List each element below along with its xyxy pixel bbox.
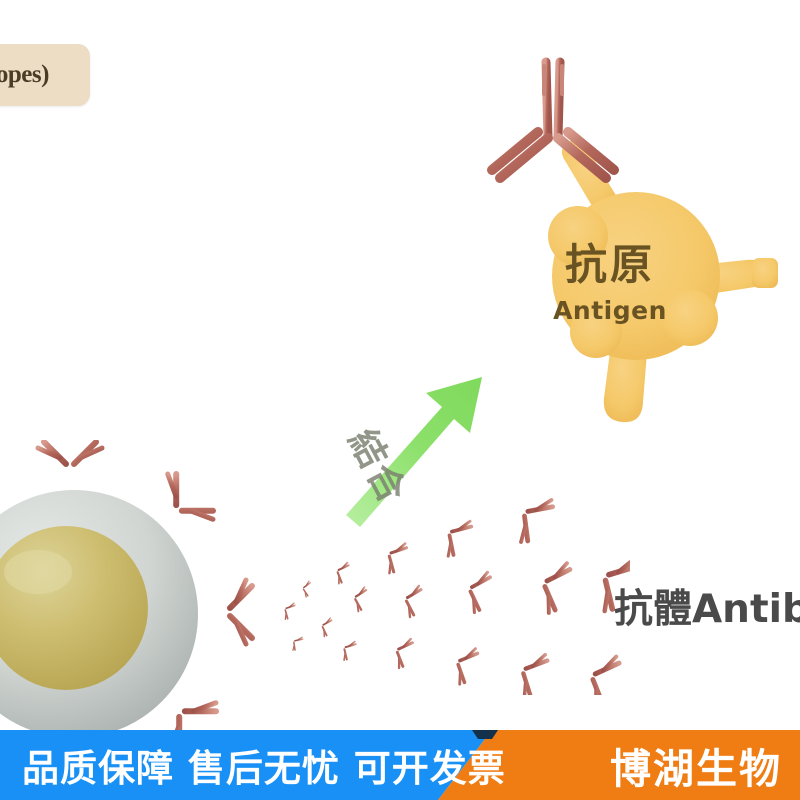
- bound-antibody-icon: [470, 40, 650, 220]
- antibody-swarm: [270, 455, 630, 695]
- banner-slogan: 品质保障 售后无忧 可开发票: [22, 738, 506, 792]
- bcell-group: B細胞 B-cell: [0, 440, 290, 780]
- promo-banner: 品质保障 售后无忧 可开发票 博湖生物: [0, 730, 800, 800]
- antigen-epitope-right-tip: [752, 258, 778, 288]
- epitope-callout-box: Epitopes): [0, 44, 90, 106]
- illustration-canvas: Epitopes) 抗原 Ant: [0, 0, 800, 800]
- antigen-label-cn: 抗原: [500, 244, 720, 286]
- epitope-callout-label: Epitopes): [0, 61, 49, 89]
- bcell-shape: [0, 440, 290, 780]
- antibody-label: 抗體Antibo: [614, 578, 800, 634]
- bcell-nucleus-highlight: [4, 550, 72, 594]
- banner-brand-name: 博湖生物: [610, 735, 782, 795]
- antigen-label-en: Antigen: [500, 298, 720, 323]
